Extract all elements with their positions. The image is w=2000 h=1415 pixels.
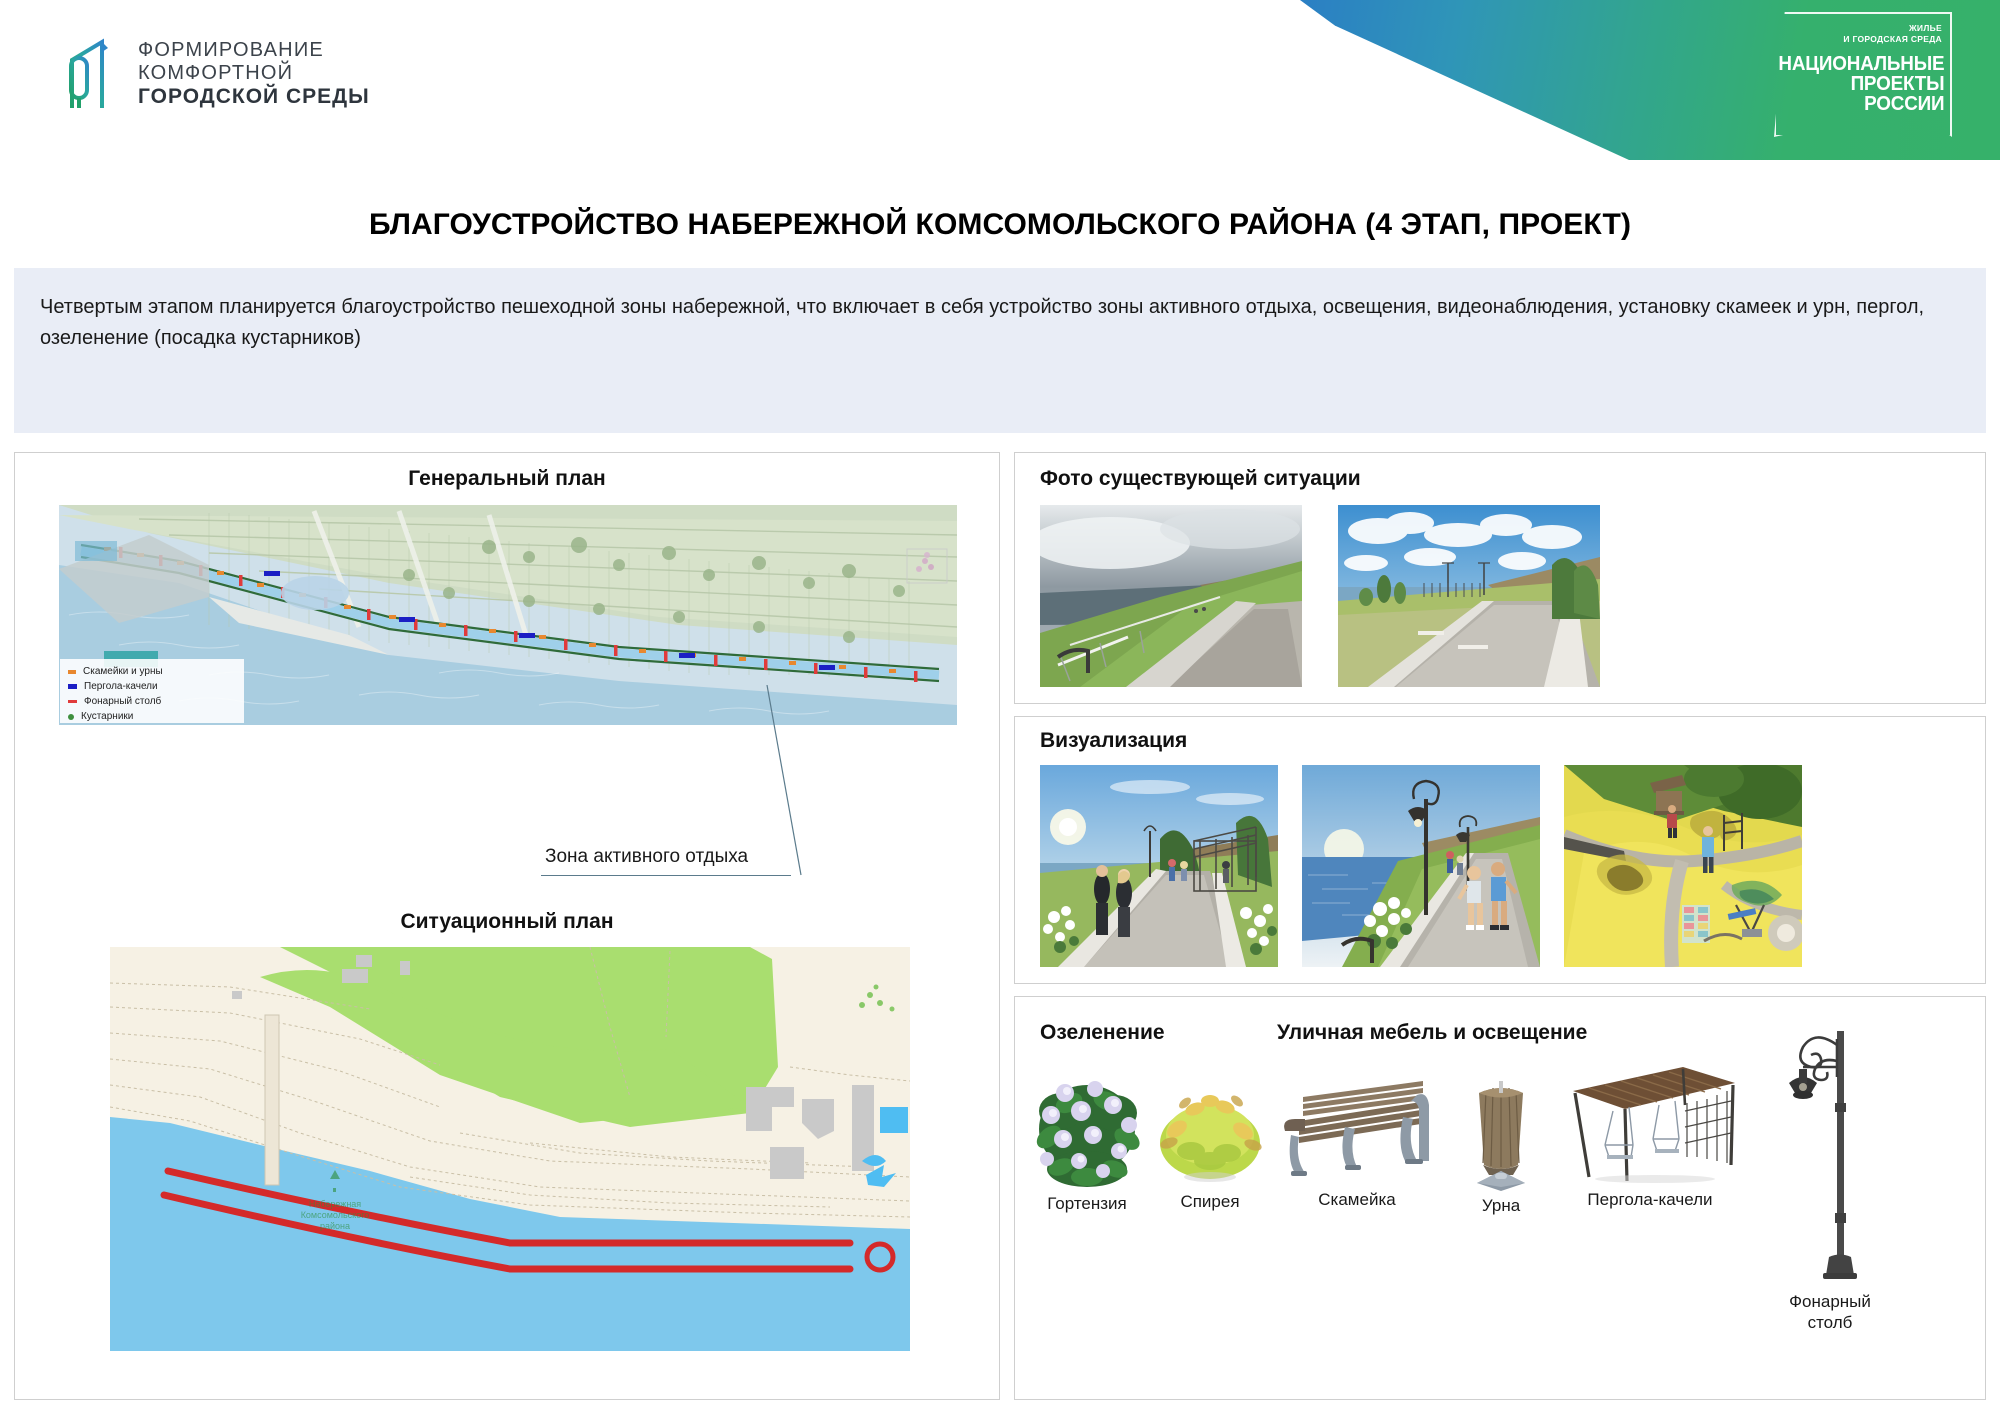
logo-line-2: КОМФОРТНОЙ — [138, 62, 370, 85]
plans-panel: Генеральный план — [14, 452, 1000, 1400]
visualization-panel: Визуализация — [1014, 716, 1986, 984]
badge-subtitle: ЖИЛЬЕ И ГОРОДСКАЯ СРЕДА — [1843, 23, 1942, 44]
furniture-item-lamp-post-caption: Фонарный столб — [1775, 1291, 1885, 1334]
page-title: БЛАГОУСТРОЙСТВО НАБЕРЕЖНОЙ КОМСОМОЛЬСКОГ… — [0, 208, 2000, 242]
legend-item-shrubs: Кустарники — [68, 709, 236, 724]
lamp-post-image — [1775, 1017, 1885, 1287]
situational-plan-title: Ситуационный план — [15, 910, 999, 934]
description-text: Четвертым этапом планируется благоустрой… — [14, 268, 1986, 354]
general-plan-legend: Скамейки и урны Пергола-качели Фонарный … — [60, 659, 244, 723]
bench-image — [1277, 1073, 1437, 1185]
existing-photos-row — [1040, 505, 1600, 687]
legend-label-pergola: Пергола-качели — [84, 681, 158, 692]
situational-plan-map[interactable]: Набережная Комсомольского района — [110, 947, 910, 1351]
furniture-item-urn-caption: Урна — [1455, 1195, 1547, 1216]
national-projects-badge: ЖИЛЬЕ И ГОРОДСКАЯ СРЕДА НАЦИОНАЛЬНЫЕ ПРО… — [1774, 12, 1952, 137]
general-plan-map[interactable]: Скамейки и урны Пергола-качели Фонарный … — [59, 505, 957, 725]
description-box: Четвертым этапом планируется благоустрой… — [14, 268, 1986, 433]
presentation-slide: ЖИЛЬЕ И ГОРОДСКАЯ СРЕДА НАЦИОНАЛЬНЫЕ ПРО… — [0, 0, 2000, 1415]
greening-item-spirea-caption: Спирея — [1155, 1191, 1265, 1212]
zone-callout-underline — [541, 875, 791, 876]
legend-item-benches: Скамейки и урны — [68, 664, 236, 679]
zone-callout-label: Зона активного отдыха — [545, 846, 748, 868]
header-banner: ЖИЛЬЕ И ГОРОДСКАЯ СРЕДА НАЦИОНАЛЬНЫЕ ПРО… — [1300, 0, 2000, 160]
furniture-item-pergola-caption: Пергола-качели — [1555, 1189, 1745, 1210]
existing-photos-title: Фото существующей ситуации — [1040, 467, 1361, 491]
furniture-item-urn[interactable]: Урна — [1455, 1073, 1547, 1216]
legend-label-lamp: Фонарный столб — [84, 696, 161, 707]
furniture-title: Уличная мебель и освещение — [1277, 1021, 1587, 1045]
badge-subtitle-line2: И ГОРОДСКАЯ СРЕДА — [1843, 34, 1942, 45]
furniture-item-lamp-post[interactable]: Фонарный столб — [1775, 1017, 1885, 1334]
badge-title-line1: НАЦИОНАЛЬНЫЕ — [1778, 54, 1944, 74]
visualization-title: Визуализация — [1040, 729, 1187, 753]
furniture-item-pergola[interactable]: Пергола-качели — [1555, 1061, 1745, 1210]
pergola-swing-marker-icon — [68, 684, 77, 689]
hydrangea-shrub-image — [1027, 1059, 1147, 1189]
visualization-runners-lamppost[interactable] — [1302, 765, 1540, 967]
program-logo: ФОРМИРОВАНИЕ КОМФОРТНОЙ ГОРОДСКОЙ СРЕДЫ — [58, 38, 370, 110]
pergola-swing-image — [1555, 1061, 1745, 1185]
legend-label-shrubs: Кустарники — [81, 711, 133, 722]
general-plan-title: Генеральный план — [15, 467, 999, 491]
existing-embankment-overcast-photo[interactable] — [1040, 505, 1302, 687]
furniture-item-bench[interactable]: Скамейка — [1277, 1073, 1437, 1210]
slide-content: Генеральный план — [14, 452, 1986, 1400]
comfortable-urban-environment-logo-icon — [58, 38, 120, 110]
slide-header: ЖИЛЬЕ И ГОРОДСКАЯ СРЕДА НАЦИОНАЛЬНЫЕ ПРО… — [0, 0, 2000, 160]
lamp-post-marker-icon — [68, 700, 77, 703]
spirea-shrub-image — [1155, 1077, 1265, 1187]
legend-label-benches: Скамейки и урны — [83, 666, 163, 677]
visualization-row — [1040, 765, 1802, 967]
badge-title-line2: ПРОЕКТЫ — [1778, 74, 1944, 94]
right-column: Фото существующей ситуации — [1014, 452, 1986, 1400]
elements-panel: Озеленение Уличная мебель и освещение — [1014, 996, 1986, 1400]
greening-item-spirea[interactable]: Спирея — [1155, 1077, 1265, 1212]
badge-subtitle-line1: ЖИЛЬЕ — [1843, 23, 1942, 34]
existing-embankment-sunny-photo[interactable] — [1338, 505, 1600, 687]
greening-item-hydrangea-caption: Гортензия — [1027, 1193, 1147, 1214]
shrub-marker-icon — [68, 714, 74, 720]
legend-item-lamp: Фонарный столб — [68, 694, 236, 709]
badge-title: НАЦИОНАЛЬНЫЕ ПРОЕКТЫ РОССИИ — [1778, 54, 1944, 114]
bench-urn-marker-icon — [68, 670, 76, 674]
legend-item-pergola: Пергола-качели — [68, 679, 236, 694]
svg-text:района: района — [320, 1221, 350, 1231]
waste-bin-image — [1455, 1073, 1547, 1191]
existing-photos-panel: Фото существующей ситуации — [1014, 452, 1986, 704]
visualization-playground-aerial[interactable] — [1564, 765, 1802, 967]
greening-title: Озеленение — [1040, 1021, 1165, 1045]
logo-line-3: ГОРОДСКОЙ СРЕДЫ — [138, 85, 370, 109]
svg-text:Набережная: Набережная — [309, 1199, 361, 1209]
visualization-promenade-pergola[interactable] — [1040, 765, 1278, 967]
logo-line-1: ФОРМИРОВАНИЕ — [138, 39, 370, 62]
program-logo-text: ФОРМИРОВАНИЕ КОМФОРТНОЙ ГОРОДСКОЙ СРЕДЫ — [138, 39, 370, 110]
badge-title-line3: РОССИИ — [1778, 94, 1944, 114]
svg-text:Комсомольского: Комсомольского — [301, 1210, 370, 1220]
furniture-item-bench-caption: Скамейка — [1277, 1189, 1437, 1210]
greening-item-hydrangea[interactable]: Гортензия — [1027, 1059, 1147, 1214]
